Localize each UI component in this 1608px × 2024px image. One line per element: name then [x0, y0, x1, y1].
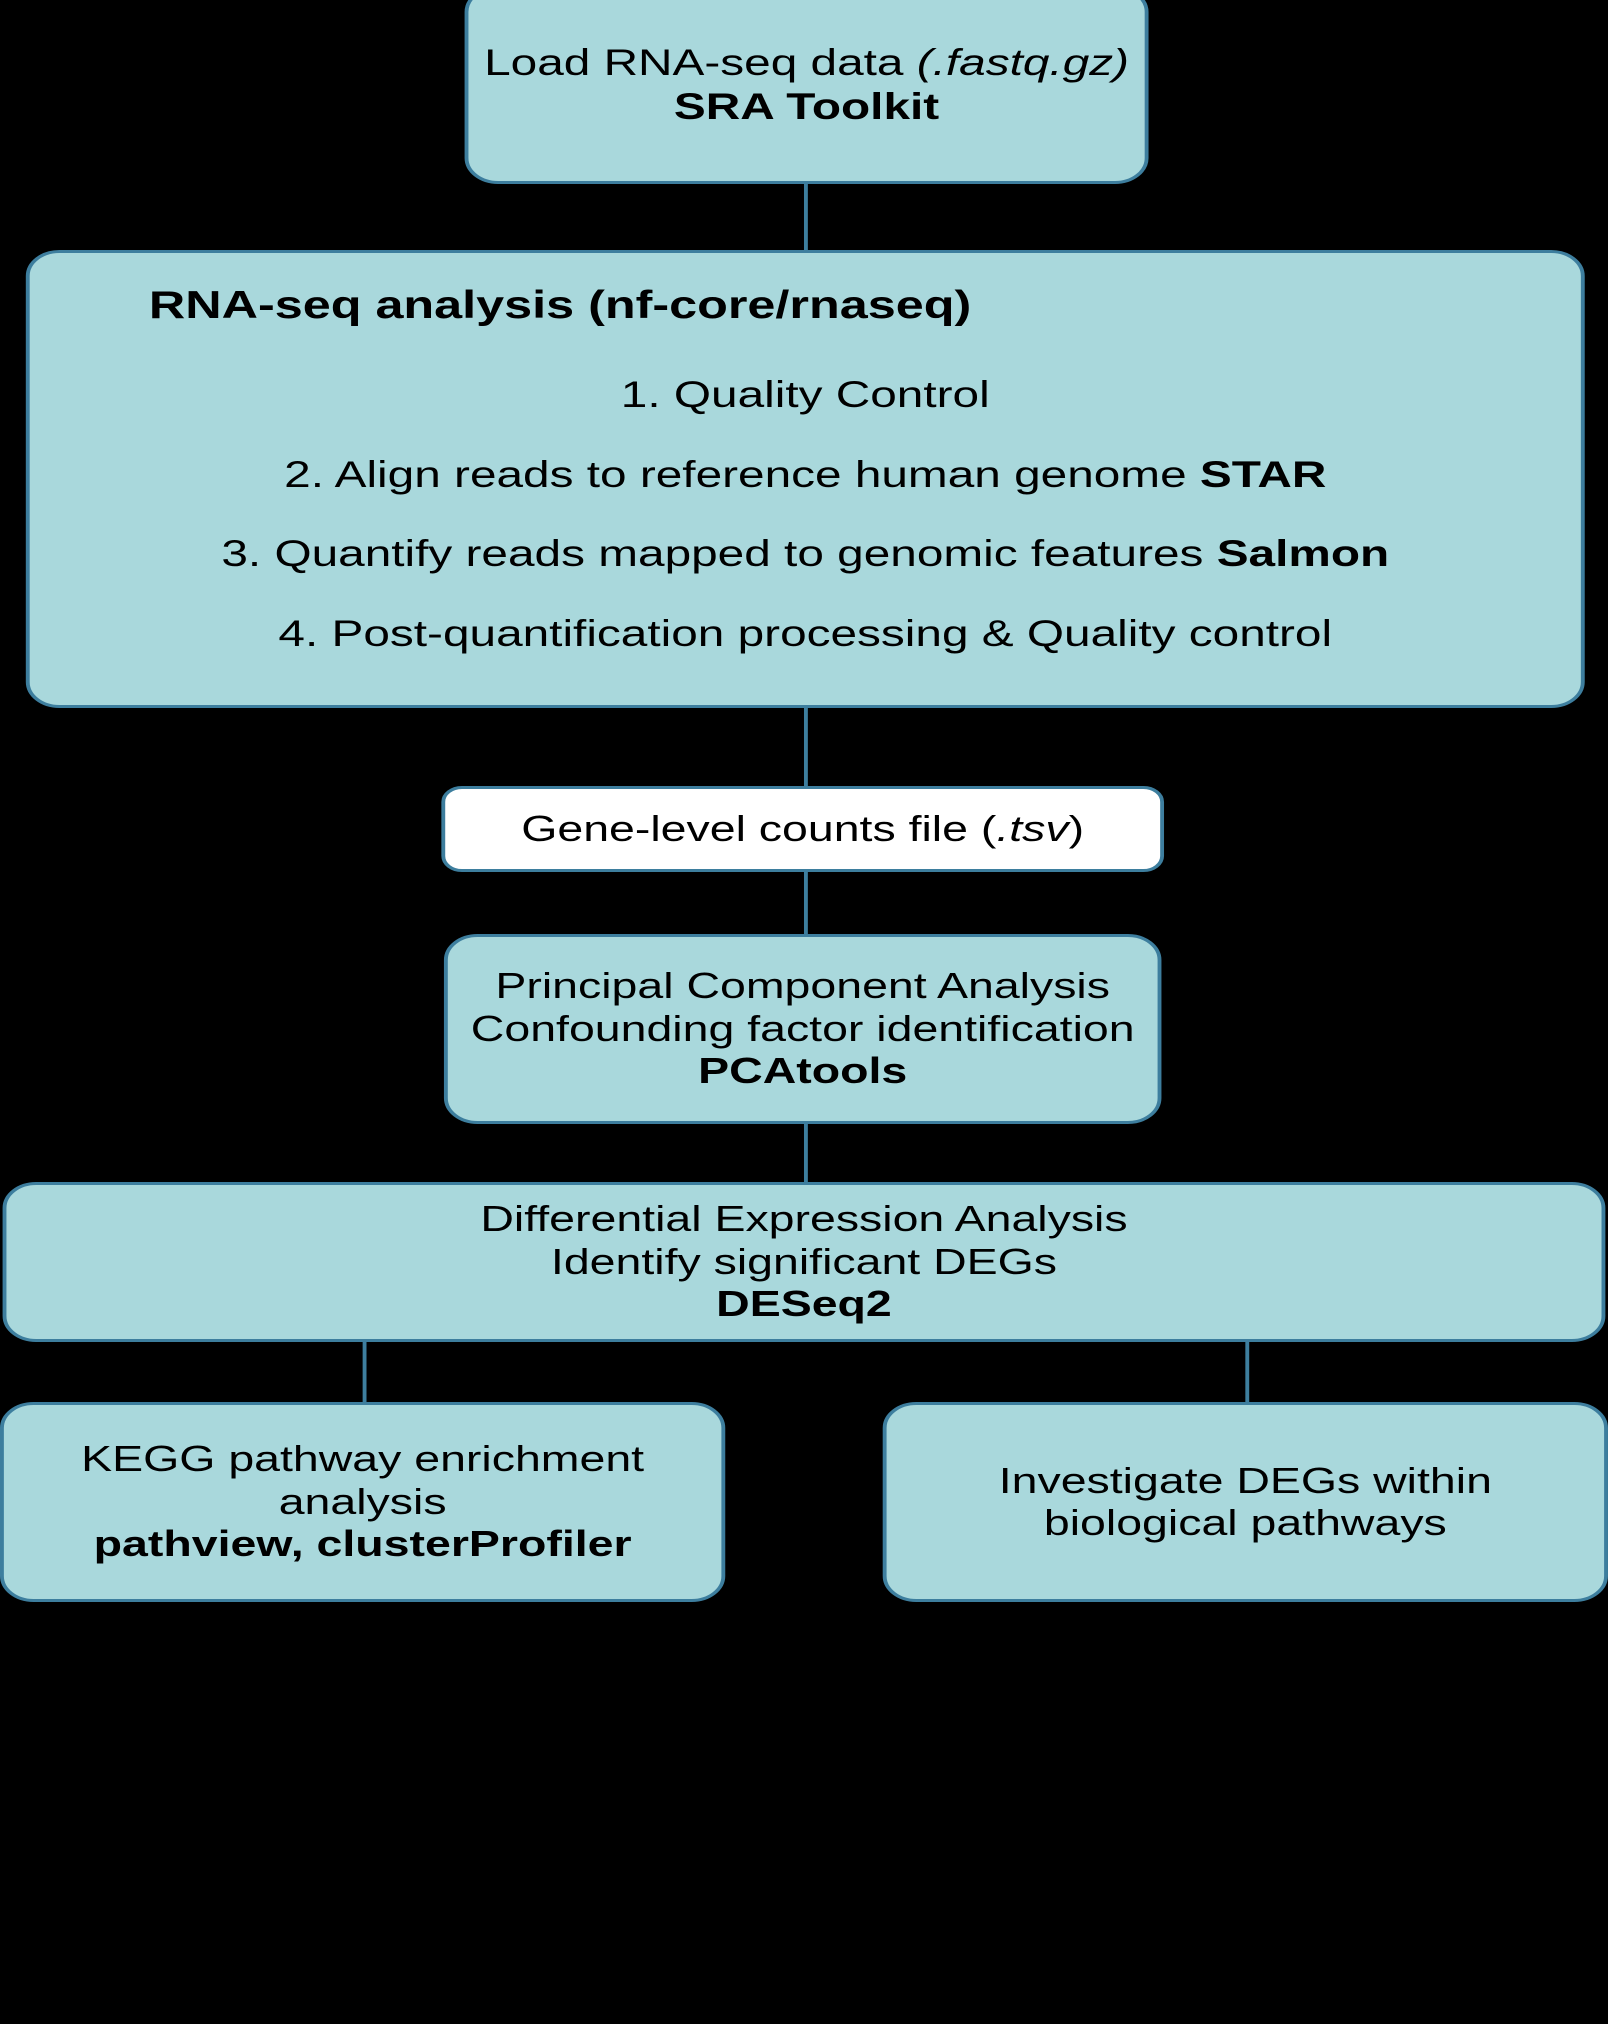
node-principal-component-analysis[interactable]: Principal Component Analysis Confounding… — [444, 934, 1162, 1124]
node-investigate-degs[interactable]: Investigate DEGs within biological pathw… — [883, 1402, 1608, 1602]
workflow-diagram: Load RNA-seq data (.fastq.gz) SRA Toolki… — [0, 0, 1608, 2024]
node-kegg-tool: pathview, clusterProfiler — [4, 1523, 722, 1565]
diagram-stage: Load RNA-seq data (.fastq.gz) SRA Toolki… — [0, 0, 1608, 2024]
node-rna-seq-analysis[interactable]: RNA-seq analysis (nf-core/rnaseq) 1. Qua… — [26, 250, 1585, 708]
node-gene-level-counts-file[interactable]: Gene-level counts file (.tsv) — [441, 786, 1164, 872]
node-load-line1: Load RNA-seq data (.fastq.gz) — [468, 41, 1144, 85]
node-pca-tool: PCAtools — [448, 1050, 1158, 1092]
node-deseq-line1: Differential Expression Analysis — [6, 1198, 1601, 1240]
node-rnaseq-step-4: 4. Post-quantification processing & Qual… — [30, 612, 1581, 656]
node-rnaseq-step-1: 1. Quality Control — [30, 373, 1581, 417]
node-deseq-line2: Identify significant DEGs — [6, 1241, 1601, 1283]
node-rnaseq-step-2: 2. Align reads to reference human genome… — [30, 453, 1581, 497]
node-rnaseq-step-3: 3. Quantify reads mapped to genomic feat… — [30, 532, 1581, 576]
connector-deseq-to-investigate — [1245, 1342, 1249, 1402]
connector-rnaseq-to-counts — [804, 708, 808, 786]
node-kegg-line1: KEGG pathway enrichment — [4, 1438, 722, 1480]
node-investigate-line2: biological pathways — [887, 1502, 1605, 1544]
node-kegg-line2: analysis — [4, 1481, 722, 1523]
node-investigate-line1: Investigate DEGs within — [887, 1460, 1605, 1502]
connector-pca-to-deseq — [804, 1124, 808, 1182]
node-kegg-pathway-enrichment[interactable]: KEGG pathway enrichment analysis pathvie… — [0, 1402, 725, 1602]
node-load-rna-seq-data[interactable]: Load RNA-seq data (.fastq.gz) SRA Toolki… — [465, 0, 1149, 184]
node-pca-line2: Confounding factor identification — [448, 1008, 1158, 1050]
connector-load-to-rnaseq — [804, 184, 808, 250]
node-deseq-tool: DESeq2 — [6, 1283, 1601, 1325]
node-differential-expression-analysis[interactable]: Differential Expression Analysis Identif… — [3, 1182, 1606, 1342]
connector-counts-to-pca — [804, 872, 808, 934]
node-counts-label: Gene-level counts file (.tsv) — [445, 808, 1160, 850]
node-pca-line1: Principal Component Analysis — [448, 965, 1158, 1007]
connector-deseq-to-kegg — [363, 1342, 367, 1402]
node-rnaseq-title: RNA-seq analysis (nf-core/rnaseq) — [0, 283, 1336, 329]
node-load-tool: SRA Toolkit — [468, 85, 1144, 129]
